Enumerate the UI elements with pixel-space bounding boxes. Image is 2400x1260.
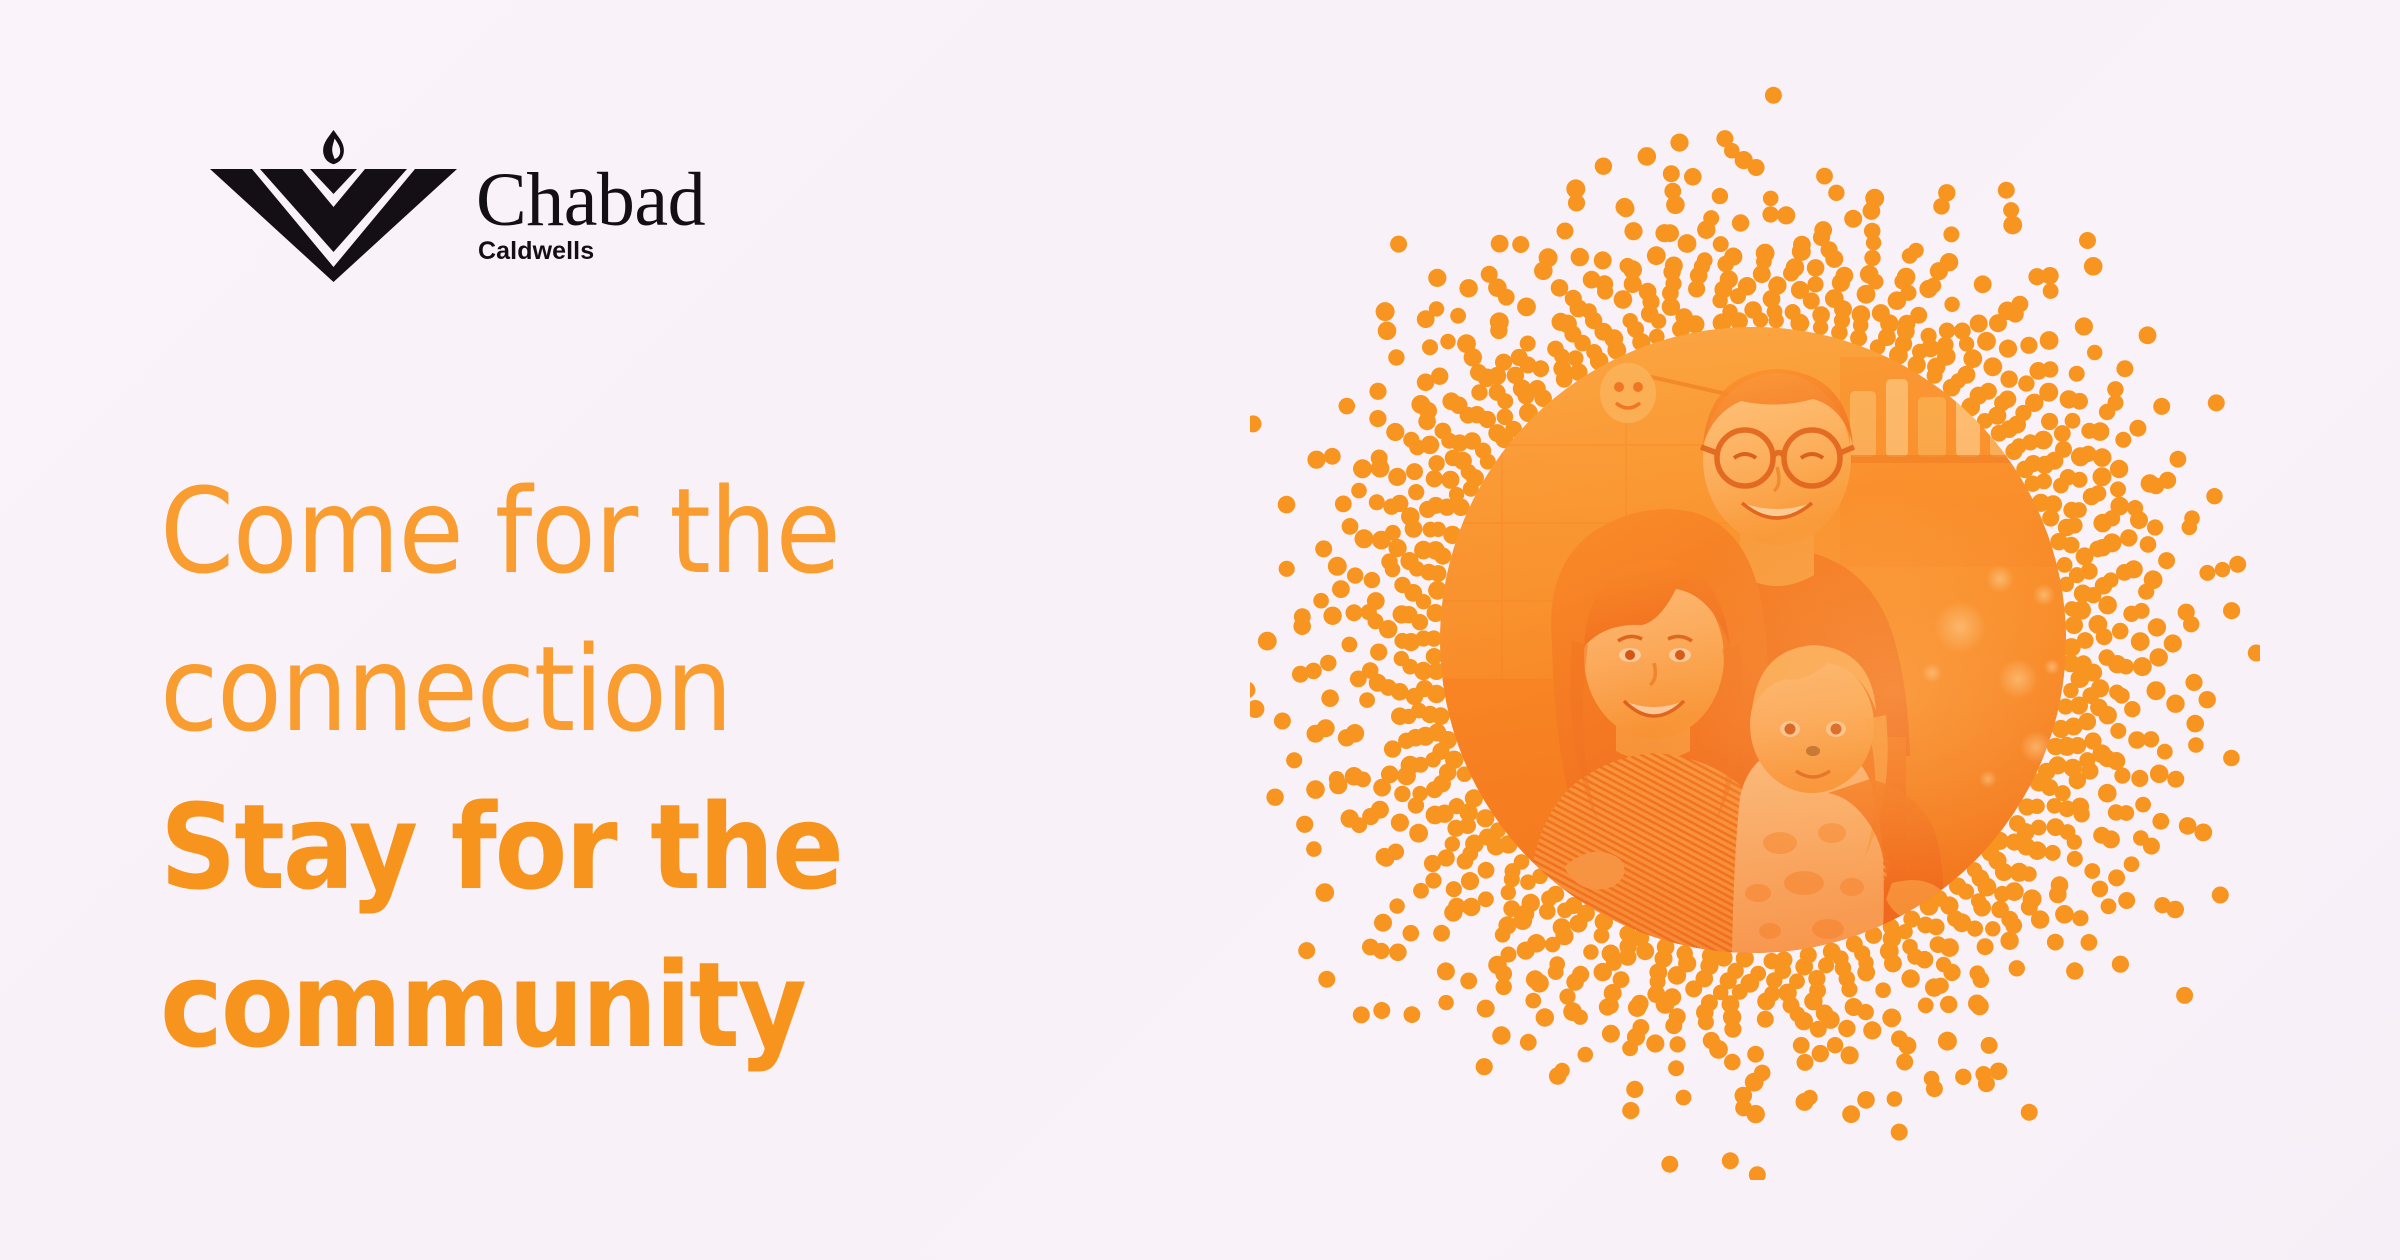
chabad-logo[interactable]: Chabad Caldwells (208, 128, 678, 288)
photo-visual-block (1250, 80, 2260, 1180)
logo-brand-name: Chabad (476, 166, 686, 236)
headline-block: Come for the connection Stay for the com… (160, 452, 1160, 1084)
headline-line-3: Stay for the (160, 768, 1060, 926)
headline-line-1: Come for the (160, 452, 1060, 610)
menorah-flame-icon (208, 128, 458, 283)
logo-wordmark: Chabad Caldwells (476, 166, 686, 276)
promo-banner: Chabad Caldwells Come for the connection… (0, 0, 2400, 1260)
duotone-overlay (1440, 327, 2066, 953)
family-photo-circle (1440, 327, 2066, 953)
headline-line-4: community (160, 926, 1060, 1084)
headline-line-2: connection (160, 610, 1060, 768)
left-content-column: Chabad Caldwells Come for the connection… (0, 0, 1200, 1260)
